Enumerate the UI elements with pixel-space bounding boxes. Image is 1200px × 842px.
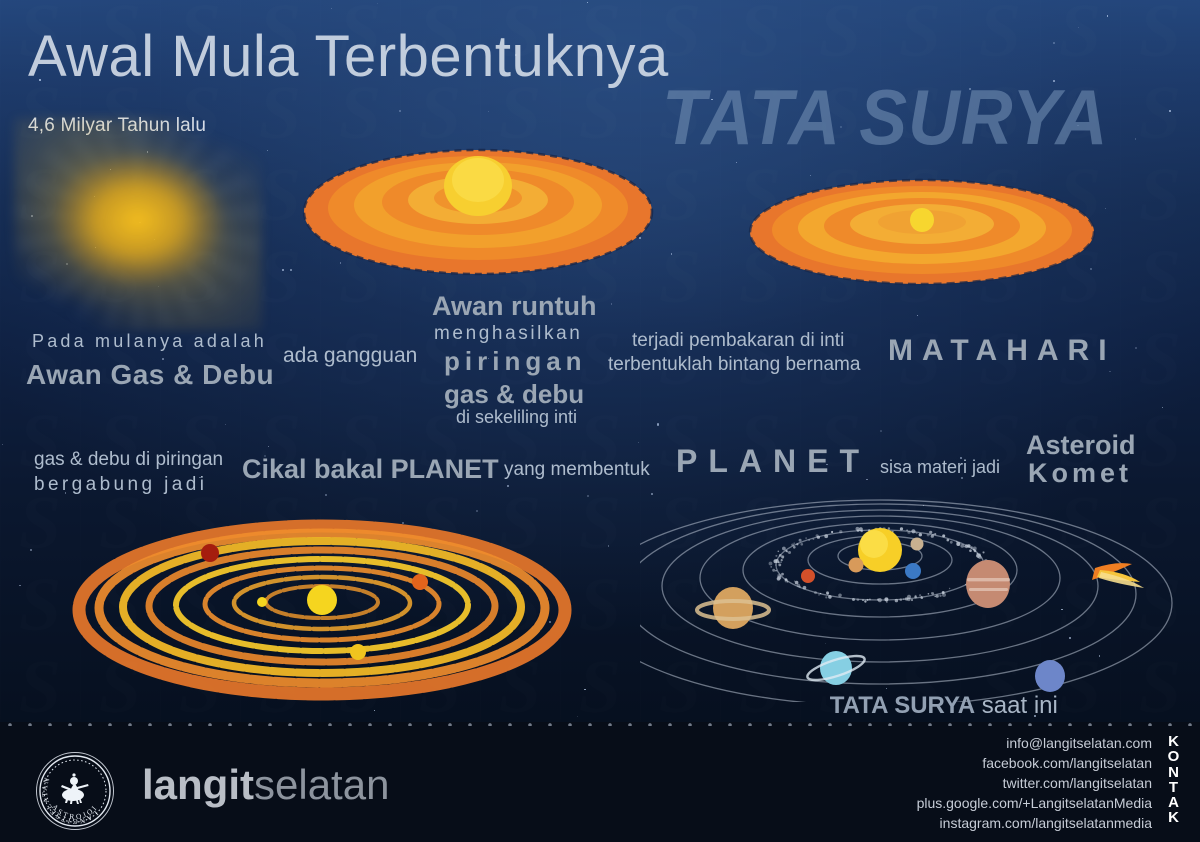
caption-cloud-line1: Pada mulanya adalah (32, 330, 267, 353)
planet-merkurius (911, 538, 924, 551)
caption-collapse-line3: piringan (444, 346, 587, 377)
contact-list: info@langitselatan.com facebook.com/lang… (732, 734, 1152, 833)
caption-collapse-line1: Awan runtuh (432, 290, 597, 322)
page-title: Awal Mula Terbentuknya (28, 28, 669, 86)
contact-instagram[interactable]: instagram.com/langitselatanmedia (732, 814, 1152, 834)
label-planet: PLANET (676, 442, 870, 480)
caption-star-line1: terjadi pembakaran di inti (632, 329, 844, 353)
solar-system-illustration (640, 498, 1200, 702)
contact-twitter[interactable]: twitter.com/langitselatan (732, 774, 1152, 794)
planet-bumi (905, 563, 921, 579)
caption-disturbance: ada gangguan (283, 343, 417, 369)
langitselatan-seal-logo: LANGITSELATAN ASTROJOI (36, 752, 114, 830)
footer: LANGITSELATAN ASTROJOI langitse (0, 722, 1200, 842)
caption-accretion-line1: gas & debu di piringan (34, 448, 223, 472)
caption-collapse-line2: menghasilkan (434, 322, 582, 346)
contact-email[interactable]: info@langitselatan.com (732, 734, 1152, 754)
caption-star-line2: terbentuklah bintang bernama (608, 353, 860, 377)
planet-saturnus (713, 587, 753, 629)
protoplanet-rings-illustration (72, 512, 572, 702)
caption-leftovers: sisa materi jadi (880, 456, 1000, 479)
caption-forming: yang membentuk (504, 458, 650, 482)
protoplanetary-disk-illustration (302, 146, 654, 278)
planet-venus (849, 558, 864, 573)
caption-collapse-line5: di sekeliling inti (456, 406, 577, 429)
infographic-poster: SSSSSSSSSSSSSSSSSSSSSSSSSSSSSSSSSSSSSSSS… (0, 0, 1200, 842)
star-disk-illustration (748, 176, 1096, 288)
contact-gplus[interactable]: plus.google.com/+LangitselatanMedia (732, 794, 1152, 814)
kontak-vertical-label: KONTAK (1164, 734, 1184, 826)
caption-accretion-line2: bergabung jadi (34, 473, 207, 497)
contact-facebook[interactable]: facebook.com/langitselatan (732, 754, 1152, 774)
planet-mars (801, 569, 815, 583)
planet-jupiter (966, 560, 1010, 608)
footer-divider (0, 722, 1200, 726)
caption-cloud-line2: Awan Gas & Debu (26, 358, 274, 392)
label-komet: Komet (1028, 457, 1132, 489)
brand-wordmark: langitselatan (142, 764, 389, 806)
label-cikal-bakal-planet: Cikal bakal PLANET (242, 453, 499, 485)
comet (1092, 563, 1144, 588)
brand-light: selatan (254, 761, 389, 808)
brand-bold: langit (142, 761, 254, 808)
gas-dust-cloud-illustration (14, 118, 262, 330)
headline-tata-surya: TATA SURYA (662, 78, 1108, 156)
label-matahari: MATAHARI (888, 333, 1116, 369)
